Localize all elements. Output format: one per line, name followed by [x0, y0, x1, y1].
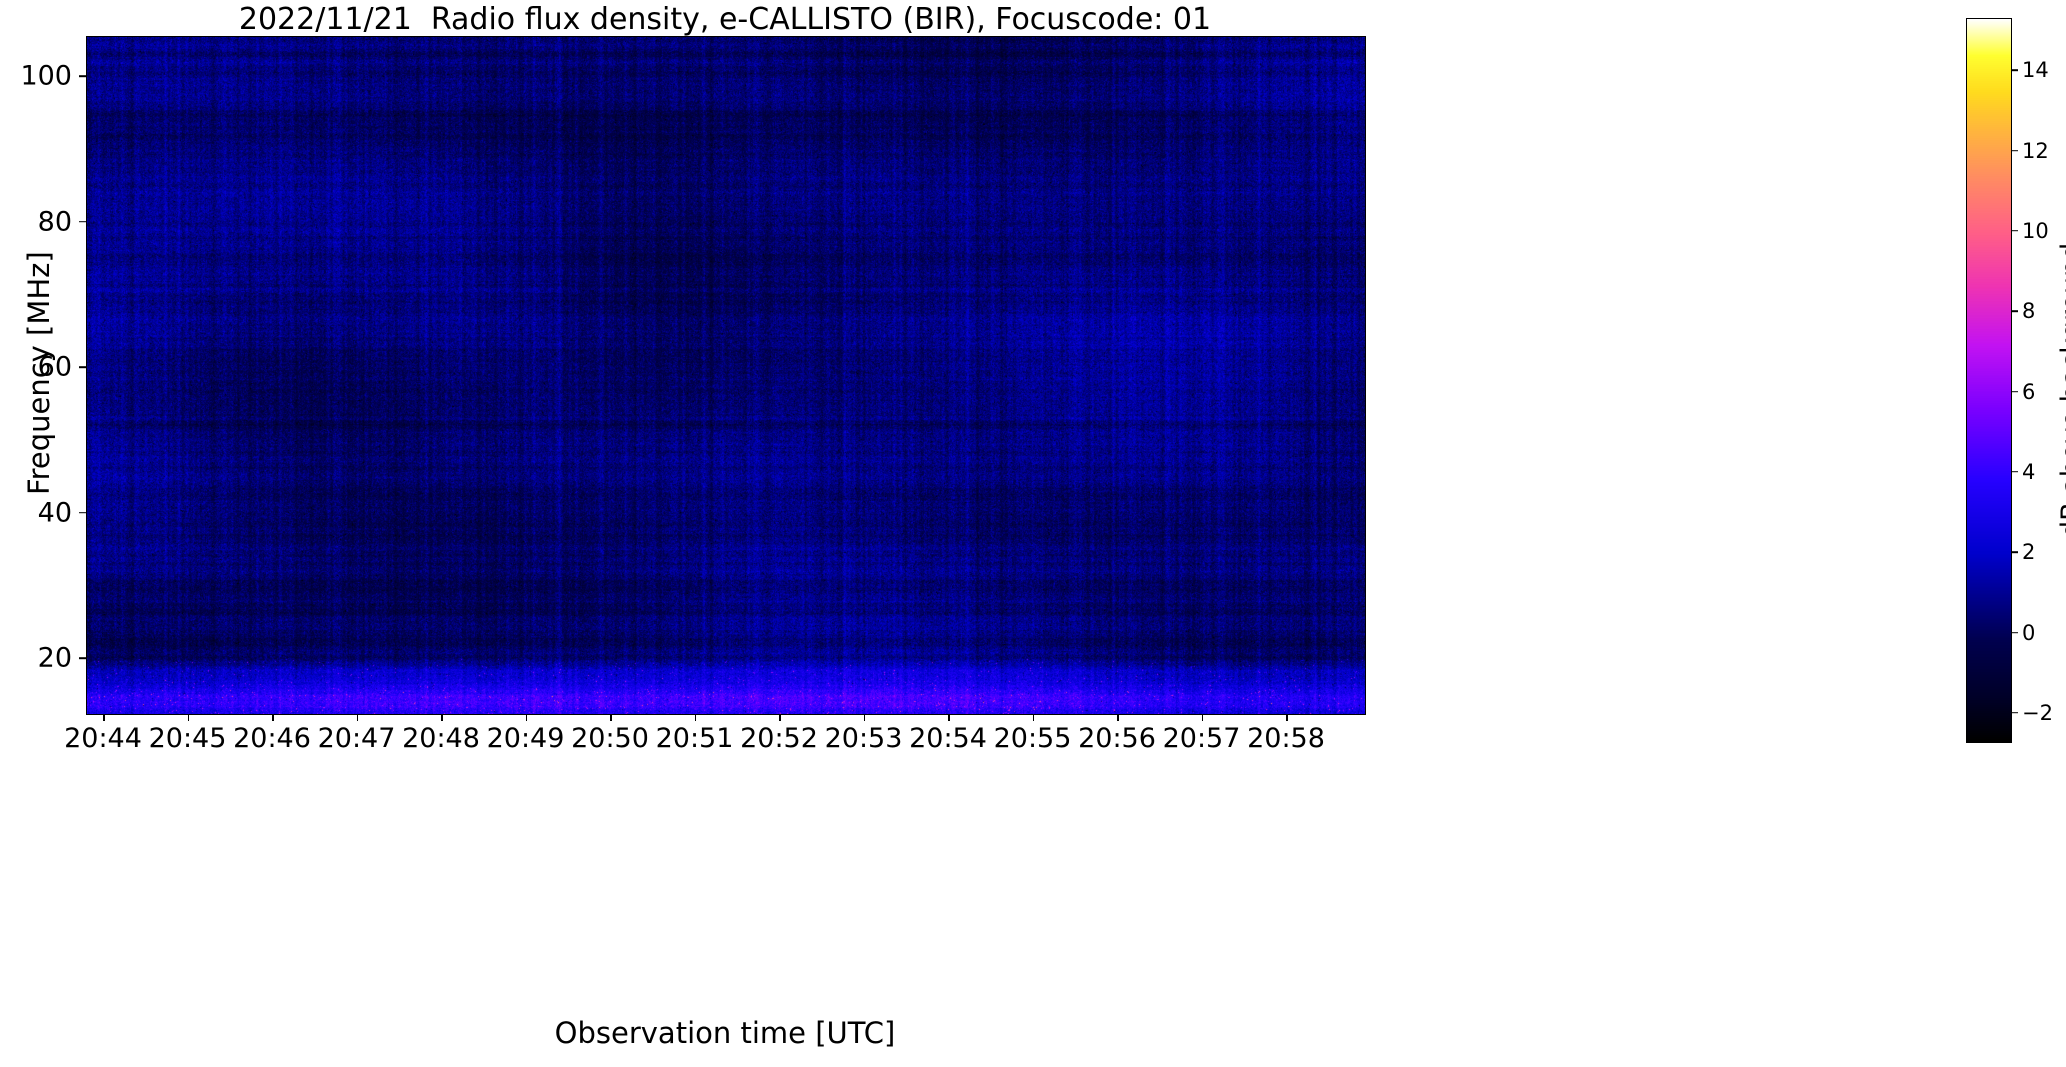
colorbar-tick-label: 12 — [2022, 139, 2049, 163]
x-axis-label: Observation time [UTC] — [86, 1016, 1364, 1050]
y-tick-mark — [79, 512, 86, 514]
colorbar-tick-mark — [2011, 150, 2018, 152]
spectrogram-axes[interactable] — [86, 36, 1366, 715]
colorbar-gradient — [1967, 19, 2011, 742]
x-tick-mark — [610, 714, 612, 721]
x-tick-mark — [188, 714, 190, 721]
x-tick-mark — [441, 714, 443, 721]
x-tick-mark — [1202, 714, 1204, 721]
x-tick-mark — [1286, 714, 1288, 721]
spectrogram-image[interactable] — [87, 37, 1365, 714]
y-tick-mark — [79, 366, 86, 368]
y-tick-mark — [79, 658, 86, 660]
x-tick-mark — [779, 714, 781, 721]
colorbar-tick-mark — [2011, 551, 2018, 553]
colorbar-tick-label: 2 — [2022, 540, 2035, 564]
x-tick-mark — [526, 714, 528, 721]
colorbar-tick-label: 0 — [2022, 621, 2035, 645]
y-tick-mark — [79, 221, 86, 223]
colorbar-tick-mark — [2011, 391, 2018, 393]
figure-canvas: 2022/11/21 Radio flux density, e-CALLIST… — [0, 0, 2066, 1067]
y-tick-label: 60 — [2, 352, 72, 383]
x-tick-mark — [864, 714, 866, 721]
y-tick-label: 80 — [2, 206, 72, 237]
colorbar-tick-label: 14 — [2022, 58, 2049, 82]
y-tick-label: 20 — [2, 643, 72, 674]
colorbar-tick-mark — [2011, 230, 2018, 232]
x-tick-mark — [1117, 714, 1119, 721]
colorbar-tick-mark — [2011, 712, 2018, 714]
colorbar-tick-mark — [2011, 310, 2018, 312]
y-tick-label: 100 — [2, 61, 72, 92]
colorbar-tick-mark — [2011, 69, 2018, 71]
x-tick-label: 20:58 — [1211, 723, 1361, 754]
y-tick-mark — [79, 75, 86, 77]
x-tick-mark — [103, 714, 105, 721]
colorbar-tick-mark — [2011, 471, 2018, 473]
x-tick-mark — [357, 714, 359, 721]
colorbar[interactable] — [1966, 18, 2012, 743]
y-tick-label: 40 — [2, 497, 72, 528]
x-tick-mark — [948, 714, 950, 721]
colorbar-tick-mark — [2011, 632, 2018, 634]
x-tick-mark — [1033, 714, 1035, 721]
colorbar-tick-label: 6 — [2022, 380, 2035, 404]
colorbar-tick-label: 10 — [2022, 219, 2049, 243]
page-title: 2022/11/21 Radio flux density, e-CALLIST… — [0, 2, 1450, 37]
colorbar-tick-label: −2 — [2022, 701, 2053, 725]
x-tick-mark — [272, 714, 274, 721]
colorbar-tick-label: 4 — [2022, 460, 2035, 484]
colorbar-label: dB above background — [2056, 242, 2066, 537]
colorbar-tick-label: 8 — [2022, 299, 2035, 323]
x-tick-mark — [695, 714, 697, 721]
